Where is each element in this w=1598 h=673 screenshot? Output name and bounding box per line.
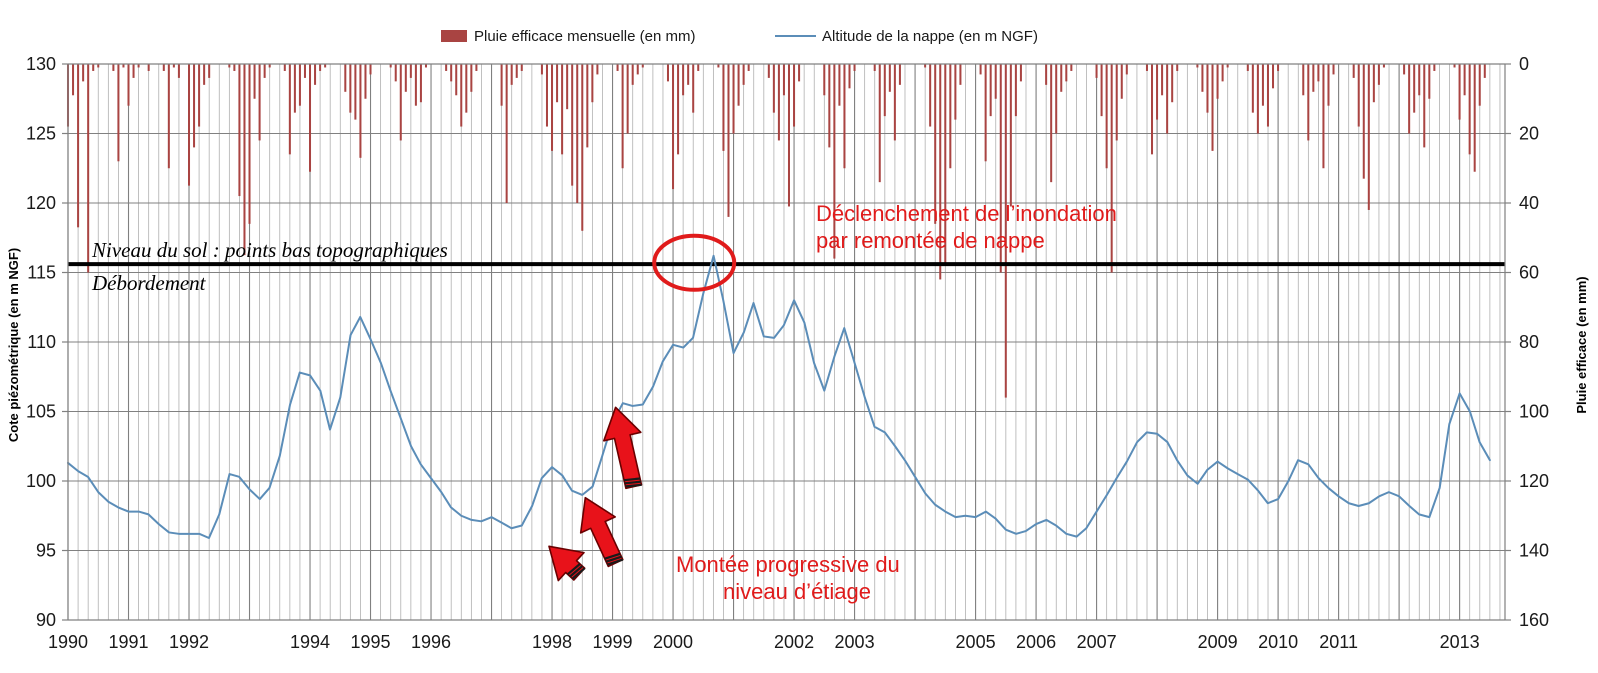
x-axis-ticks: 1990199119921994199519961998199920002002…: [48, 632, 1480, 652]
y-tick-right: 80: [1519, 332, 1539, 352]
x-tick: 1992: [169, 632, 209, 652]
y-tick-right: 20: [1519, 124, 1539, 144]
y-tick-left: 125: [26, 124, 56, 144]
annotation-ground-level: Niveau du sol : points bas topographique…: [91, 238, 448, 262]
y-tick-left: 110: [27, 332, 56, 352]
y-tick-right: 0: [1519, 54, 1529, 74]
y-tick-right: 140: [1519, 541, 1549, 561]
x-tick: 2002: [774, 632, 814, 652]
x-tick: 2011: [1319, 632, 1358, 652]
y-axis-right-title: Pluie efficace (en mm): [1574, 276, 1589, 413]
x-tick: 2000: [653, 632, 693, 652]
x-tick: 2003: [835, 632, 875, 652]
annotation-rising-line1: Montée progressive du: [676, 552, 900, 577]
piezometric-chart: 9095100105110115120125130 02040608010012…: [0, 0, 1598, 673]
x-tick: 2013: [1440, 632, 1480, 652]
x-tick: 1998: [532, 632, 572, 652]
y-axis-right-ticks: 020406080100120140160: [1505, 54, 1549, 630]
y-tick-left: 90: [36, 610, 56, 630]
x-tick: 1996: [411, 632, 451, 652]
annotation-flood-trigger-line2: par remontée de nappe: [816, 228, 1045, 253]
y-tick-left: 105: [26, 402, 56, 422]
y-tick-left: 95: [36, 541, 56, 561]
y-tick-right: 100: [1519, 402, 1549, 422]
x-tick: 1995: [351, 632, 391, 652]
x-tick: 2005: [956, 632, 996, 652]
y-axis-left-title: Cote piézométrique (en m NGF): [6, 248, 21, 442]
y-tick-left: 100: [26, 471, 56, 491]
y-tick-right: 160: [1519, 610, 1549, 630]
legend-label-rainfall: Pluie efficace mensuelle (en mm): [474, 28, 695, 45]
y-axis-left-ticks: 9095100105110115120125130: [26, 54, 68, 630]
chart-legend: Pluie efficace mensuelle (en mm) Altitud…: [441, 28, 1038, 45]
y-tick-left: 115: [27, 263, 56, 283]
x-tick: 2006: [1016, 632, 1056, 652]
x-tick: 1990: [48, 632, 88, 652]
x-tick: 1999: [593, 632, 633, 652]
chart-root: 9095100105110115120125130 02040608010012…: [0, 0, 1598, 673]
x-tick: 2007: [1077, 632, 1117, 652]
y-tick-right: 60: [1519, 263, 1539, 283]
x-tick: 2010: [1258, 632, 1298, 652]
y-tick-left: 120: [26, 193, 56, 213]
x-tick: 1991: [108, 632, 148, 652]
x-tick: 1994: [290, 632, 330, 652]
legend-label-watertable: Altitude de la nappe (en m NGF): [822, 28, 1038, 45]
annotation-rising-line2: niveau d’étiage: [723, 579, 871, 604]
annotation-flood-trigger-line1: Déclenchement de l’inondation: [816, 201, 1117, 226]
annotation-overflow: Débordement: [91, 271, 207, 295]
x-tick: 2009: [1198, 632, 1238, 652]
y-tick-right: 40: [1519, 193, 1539, 213]
legend-swatch-rainfall: [441, 30, 467, 42]
y-tick-right: 120: [1519, 471, 1549, 491]
y-tick-left: 130: [26, 54, 56, 74]
